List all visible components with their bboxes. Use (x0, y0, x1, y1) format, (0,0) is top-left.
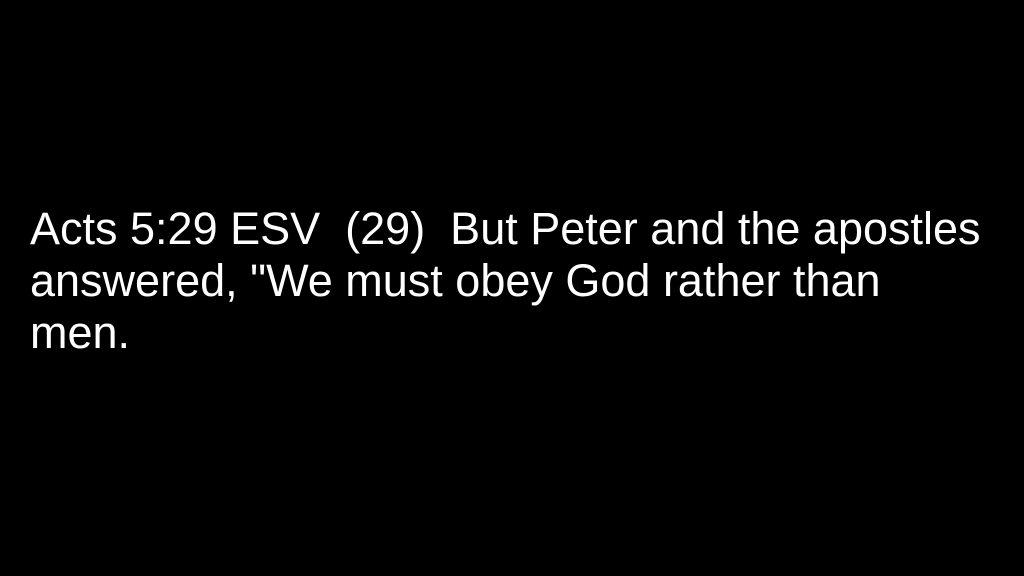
verse-line-2: answered, "We must obey God rather than (30, 255, 1002, 307)
verse-line-1: Acts 5:29 ESV (29) But Peter and the apo… (30, 203, 1002, 255)
verse-text-block: Acts 5:29 ESV (29) But Peter and the apo… (30, 203, 1002, 359)
verse-line-3: men. (30, 307, 1002, 359)
scripture-slide: Acts 5:29 ESV (29) But Peter and the apo… (0, 0, 1024, 576)
